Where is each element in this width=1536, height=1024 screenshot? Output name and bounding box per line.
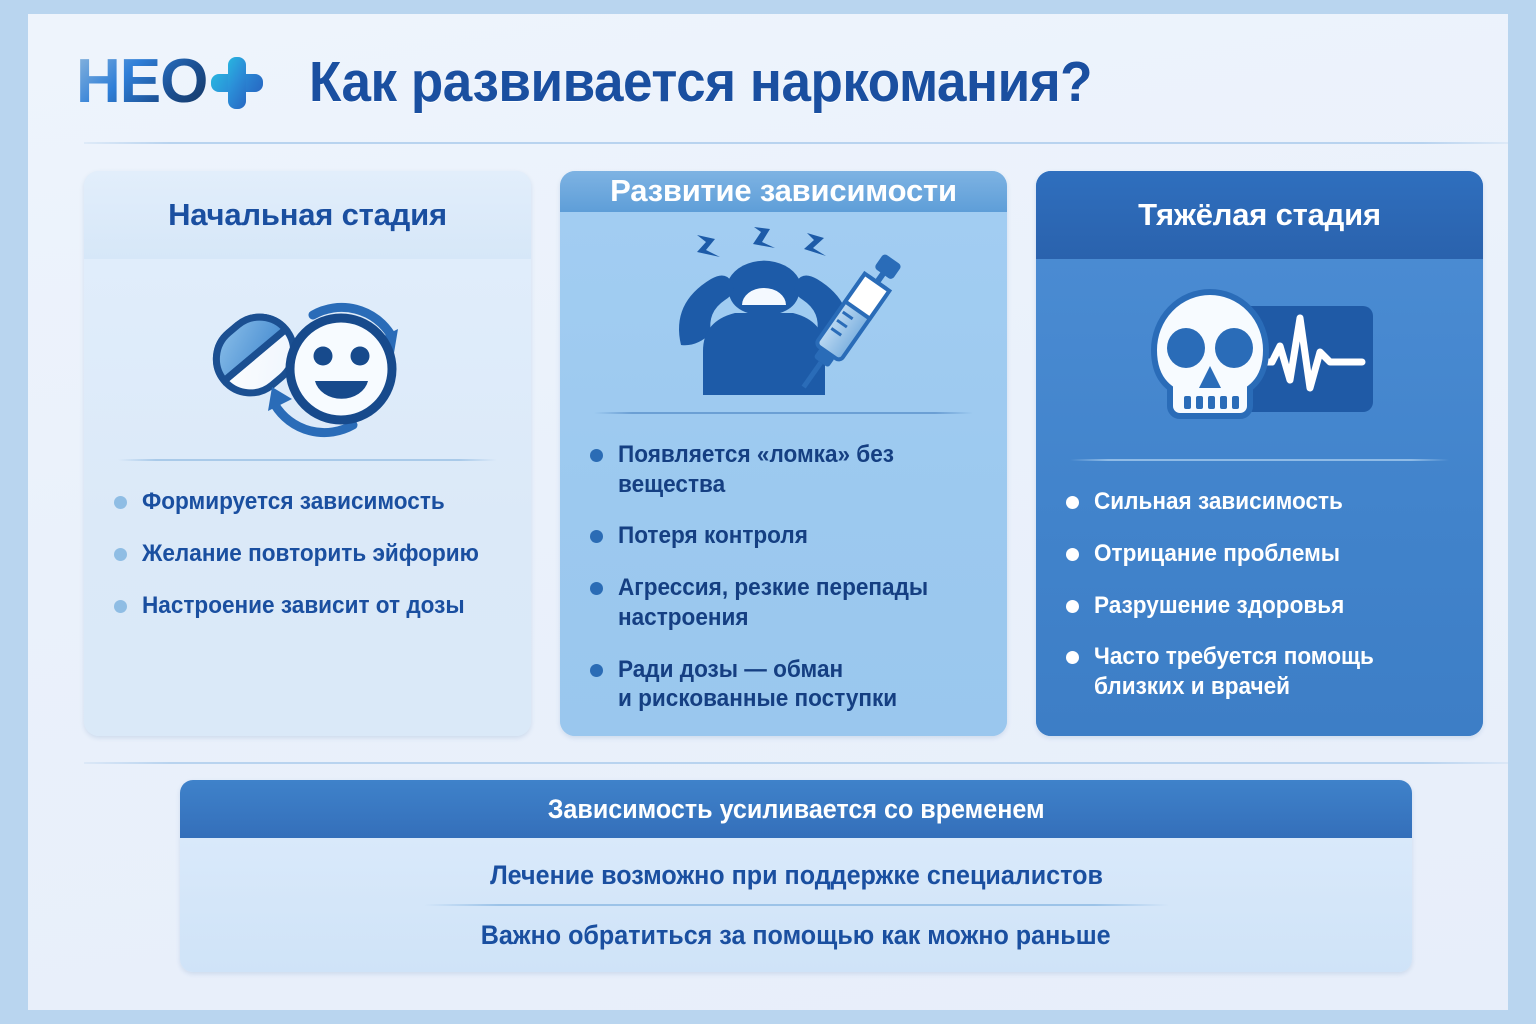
distressed-person-and-syringe-icon (560, 212, 1007, 412)
bullet-text: Сильная зависимость (1094, 487, 1343, 517)
list-item: Настроение зависит от дозы (114, 591, 503, 621)
bullet-text: Ради дозы — обман и рискованные поступки (618, 655, 897, 715)
bullet-dot-icon (114, 496, 127, 509)
summary-panel: Зависимость усиливается со временем Лече… (180, 780, 1412, 972)
bullet-dot-icon (590, 582, 603, 595)
bullet-dot-icon (1066, 600, 1079, 613)
summary-line-2-text: Важно обратиться за помощью как можно ра… (481, 920, 1111, 951)
bullet-text: Часто требуется помощь близких и врачей (1094, 642, 1374, 702)
stage-card-initial-title: Начальная стадия (84, 171, 531, 259)
bullet-dot-icon (590, 664, 603, 677)
summary-body: Лечение возможно при поддержке специалис… (180, 838, 1412, 972)
bullet-text: Желание повторить эйфорию (142, 539, 479, 569)
list-item: Появляется «ломка» без вещества (590, 440, 979, 500)
list-item: Сильная зависимость (1066, 487, 1455, 517)
header-divider (84, 142, 1508, 144)
stage-card-severe-title: Тяжёлая стадия (1036, 171, 1483, 259)
list-item: Формируется зависимость (114, 487, 503, 517)
logo-wordmark: НЕО (76, 51, 207, 113)
bullet-dot-icon (590, 530, 603, 543)
summary-line-1-text: Лечение возможно при поддержке специалис… (490, 860, 1103, 891)
stage-card-initial-body: Формируется зависимость Желание повторит… (84, 259, 531, 736)
summary-headline-text: Зависимость усиливается со временем (548, 794, 1045, 825)
plus-icon-bar-vertical (228, 57, 246, 109)
stage-card-initial-bullets: Формируется зависимость Желание повторит… (84, 461, 531, 642)
bullet-text: Потеря контроля (618, 521, 808, 551)
bullet-text: Появляется «ломка» без вещества (618, 440, 957, 500)
list-item: Разрушение здоровья (1066, 591, 1455, 621)
stage-card-development-title: Развитие зависимости (560, 171, 1007, 212)
summary-headline: Зависимость усиливается со временем (180, 780, 1412, 838)
bullet-dot-icon (1066, 651, 1079, 664)
stage-card-development-body: Появляется «ломка» без вещества Потеря к… (560, 212, 1007, 736)
bullet-dot-icon (114, 600, 127, 613)
footer-divider (84, 762, 1508, 764)
stage-card-severe-bullets: Сильная зависимость Отрицание проблемы Р… (1036, 461, 1483, 724)
list-item: Ради дозы — обман и рискованные поступки (590, 655, 979, 715)
brand-logo: НЕО (76, 51, 263, 113)
bullet-dot-icon (1066, 496, 1079, 509)
stage-card-severe-body: Сильная зависимость Отрицание проблемы Р… (1036, 259, 1483, 736)
bullet-text: Агрессия, резкие перепады настроения (618, 573, 957, 633)
summary-inner-divider (424, 904, 1169, 906)
bullet-text: Формируется зависимость (142, 487, 445, 517)
list-item: Часто требуется помощь близких и врачей (1066, 642, 1455, 702)
stages-container: Начальная стадия (84, 171, 1508, 736)
list-item: Агрессия, резкие перепады настроения (590, 573, 979, 633)
bullet-dot-icon (1066, 548, 1079, 561)
list-item: Отрицание проблемы (1066, 539, 1455, 569)
stage-card-severe: Тяжёлая стадия (1036, 171, 1483, 736)
infographic-page: НЕО Как развивается наркомания? Начальна… (28, 14, 1508, 1010)
list-item: Желание повторить эйфорию (114, 539, 503, 569)
page-title: Как развивается наркомания? (309, 49, 1092, 115)
bullet-text: Отрицание проблемы (1094, 539, 1340, 569)
list-item: Потеря контроля (590, 521, 979, 551)
stage-card-development-bullets: Появляется «ломка» без вещества Потеря к… (560, 414, 1007, 736)
summary-line-2: Важно обратиться за помощью как можно ра… (457, 912, 1134, 958)
bullet-text: Настроение зависит от дозы (142, 591, 465, 621)
stage-card-initial: Начальная стадия (84, 171, 531, 736)
pill-and-smiley-cycle-icon (84, 259, 531, 459)
bullet-text: Разрушение здоровья (1094, 591, 1344, 621)
skull-and-ecg-monitor-icon (1036, 259, 1483, 459)
stage-card-development: Развитие зависимости (560, 171, 1007, 736)
bullet-dot-icon (590, 449, 603, 462)
bullet-dot-icon (114, 548, 127, 561)
plus-icon (211, 57, 263, 109)
summary-line-1: Лечение возможно при поддержке специалис… (467, 852, 1126, 898)
page-header: НЕО Как развивается наркомания? (56, 30, 1480, 134)
